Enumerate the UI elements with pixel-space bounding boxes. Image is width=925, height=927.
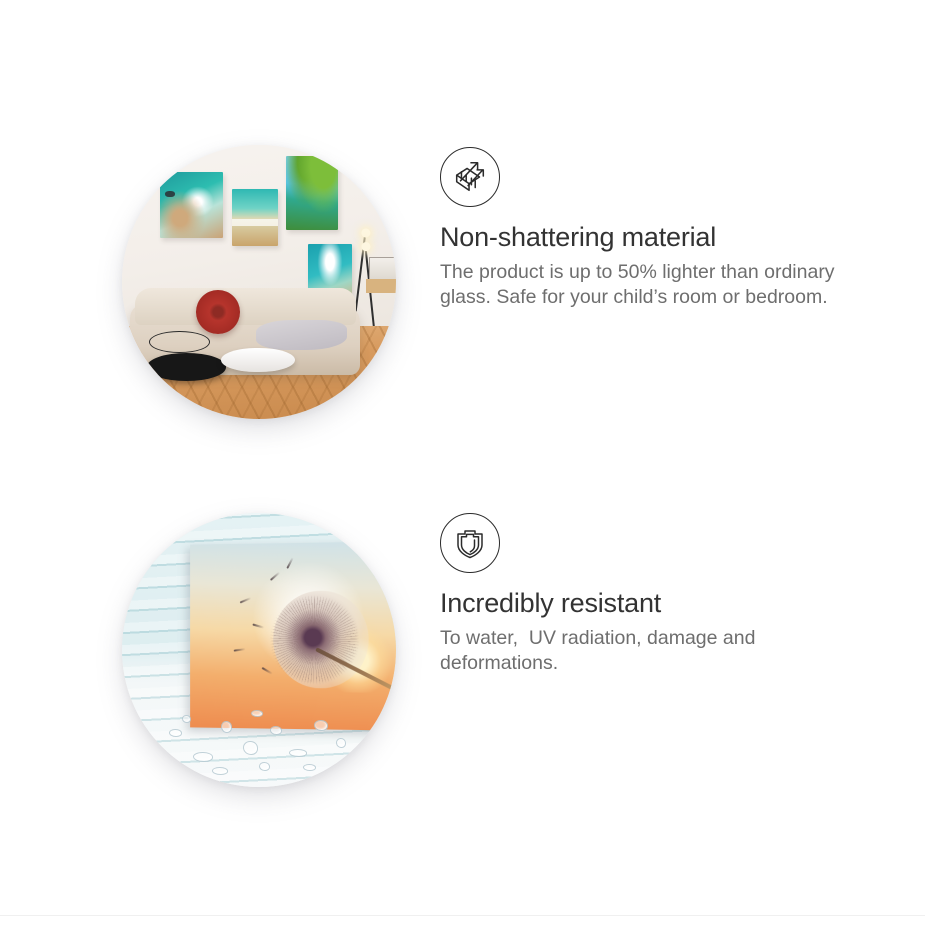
wire-basket: [149, 331, 209, 353]
red-round-cushion: [196, 290, 240, 334]
water-droplet: [336, 738, 346, 748]
dandelion-seed: [261, 667, 272, 675]
water-droplet: [169, 729, 182, 737]
water-droplet: [138, 744, 155, 753]
water-droplet: [270, 726, 282, 735]
wall-art-ocean-aerial: [160, 172, 223, 238]
water-droplet: [193, 752, 213, 762]
product-features-page: Non-shattering material The product is u…: [0, 0, 925, 927]
white-round-table: [221, 348, 295, 373]
feature-block-non-shattering-material: Non-shattering material The product is u…: [0, 145, 925, 430]
dandelion-scene: [122, 513, 396, 787]
dandelion-seed: [252, 624, 264, 629]
living-room-wall-art-photo: [122, 145, 396, 419]
feature-text-column: Incredibly resistant To water, UV radiat…: [440, 513, 890, 676]
water-droplet: [259, 762, 270, 771]
water-droplet: [251, 710, 263, 717]
water-droplet: [314, 720, 328, 731]
dandelion-seed: [233, 648, 245, 652]
dandelion-seed: [286, 557, 293, 569]
water-droplet: [212, 767, 228, 775]
dandelion-seed: [240, 597, 252, 603]
water-droplet: [221, 721, 232, 733]
feature-description: The product is up to 50% lighter than or…: [440, 260, 872, 311]
feature-title: Incredibly resistant: [440, 587, 890, 621]
dandelion-seed: [270, 571, 280, 580]
flexible-panel-arrows-icon: [440, 147, 500, 207]
glass-print-panel: [190, 541, 396, 731]
feature-text-column: Non-shattering material The product is u…: [440, 147, 890, 310]
dandelion-glass-print-photo: [122, 513, 396, 787]
feature-block-incredibly-resistant: Incredibly resistant To water, UV radiat…: [0, 513, 925, 798]
water-droplet: [289, 749, 307, 757]
water-droplet: [303, 764, 316, 771]
water-droplet: [243, 741, 258, 755]
black-round-table: [147, 353, 226, 380]
bottom-divider: [0, 915, 925, 916]
water-droplets: [122, 705, 396, 787]
wall-art-beach-aerial: [232, 189, 279, 247]
wall-art-palm-beach: [286, 156, 338, 230]
console-shelf: [366, 279, 396, 293]
water-droplet: [182, 715, 191, 723]
feature-title: Non-shattering material: [440, 221, 890, 255]
living-room-scene: [122, 145, 396, 419]
water-droplet: [155, 759, 167, 766]
feature-description: To water, UV radiation, damage and defor…: [440, 626, 872, 677]
dandelion-head: [273, 591, 368, 689]
shield-icon: [440, 513, 500, 573]
grey-throw-blanket: [256, 320, 346, 350]
